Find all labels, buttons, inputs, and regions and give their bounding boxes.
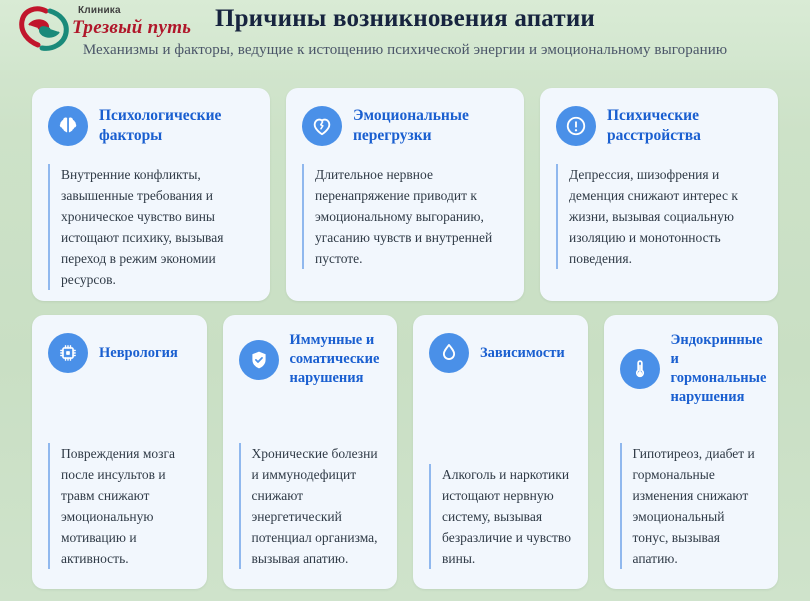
card-title: Эмоциональные перегрузки xyxy=(353,106,508,146)
card-description: Депрессия, шизофрения и деменция снижают… xyxy=(556,164,762,269)
thermometer-icon xyxy=(620,349,660,389)
card-header: Эмоциональные перегрузки xyxy=(302,104,508,148)
card-description: Длительное нервное перенапряжение привод… xyxy=(302,164,508,269)
card-header: Психологические факторы xyxy=(48,104,254,148)
card-description: Алкоголь и наркотики истощают нервную си… xyxy=(429,464,572,569)
card-title: Зависимости xyxy=(480,344,565,363)
card-header: Психические расстройства xyxy=(556,104,762,148)
card-title: Психические расстройства xyxy=(607,106,762,146)
card-title: Эндокринные и гормональные нарушения xyxy=(671,331,767,407)
exclamation-circle-icon xyxy=(556,106,596,146)
water-drop-icon xyxy=(429,333,469,373)
microchip-icon xyxy=(48,333,88,373)
card-addictions[interactable]: Зависимости Алкоголь и наркотики истощаю… xyxy=(413,315,588,589)
shield-check-icon xyxy=(239,340,279,380)
bottom-row: Неврология Повреждения мозга после инсул… xyxy=(32,315,778,589)
top-row: Психологические факторы Внутренние конфл… xyxy=(32,88,778,301)
infographic-page: Клиника Трезвый путь Причины возникновен… xyxy=(0,0,810,600)
card-description: Повреждения мозга после инсультов и трав… xyxy=(48,443,191,569)
card-title: Неврология xyxy=(99,344,178,363)
broken-heart-icon xyxy=(302,106,342,146)
card-emotional-overload[interactable]: Эмоциональные перегрузки Длительное нерв… xyxy=(286,88,524,301)
card-title: Иммунные и соматические нарушения xyxy=(290,331,382,388)
card-header: Иммунные и соматические нарушения xyxy=(239,331,382,388)
card-description: Хронические болезни и иммунодефицит сниж… xyxy=(239,443,382,569)
card-header: Неврология xyxy=(48,331,191,375)
card-immune-somatic-disorders[interactable]: Иммунные и соматические нарушения Хронич… xyxy=(223,315,398,589)
card-header: Зависимости xyxy=(429,331,572,375)
card-neurology[interactable]: Неврология Повреждения мозга после инсул… xyxy=(32,315,207,589)
cards-board: Психологические факторы Внутренние конфл… xyxy=(0,70,810,601)
card-header: Эндокринные и гормональные нарушения xyxy=(620,331,763,407)
card-title: Психологические факторы xyxy=(99,106,254,146)
page-title: Причины возникновения апатии xyxy=(0,4,810,34)
card-mental-disorders[interactable]: Психические расстройства Депрессия, шизо… xyxy=(540,88,778,301)
card-description: Внутренние конфликты, завышенные требова… xyxy=(48,164,254,290)
card-endocrine-hormonal-disorders[interactable]: Эндокринные и гормональные нарушения Гип… xyxy=(604,315,779,589)
page-subtitle: Механизмы и факторы, ведущие к истощению… xyxy=(0,41,810,60)
card-description: Гипотиреоз, диабет и гормональные измене… xyxy=(620,443,763,569)
card-psychological-factors[interactable]: Психологические факторы Внутренние конфл… xyxy=(32,88,270,301)
page-header: Клиника Трезвый путь Причины возникновен… xyxy=(0,0,810,70)
brain-icon xyxy=(48,106,88,146)
